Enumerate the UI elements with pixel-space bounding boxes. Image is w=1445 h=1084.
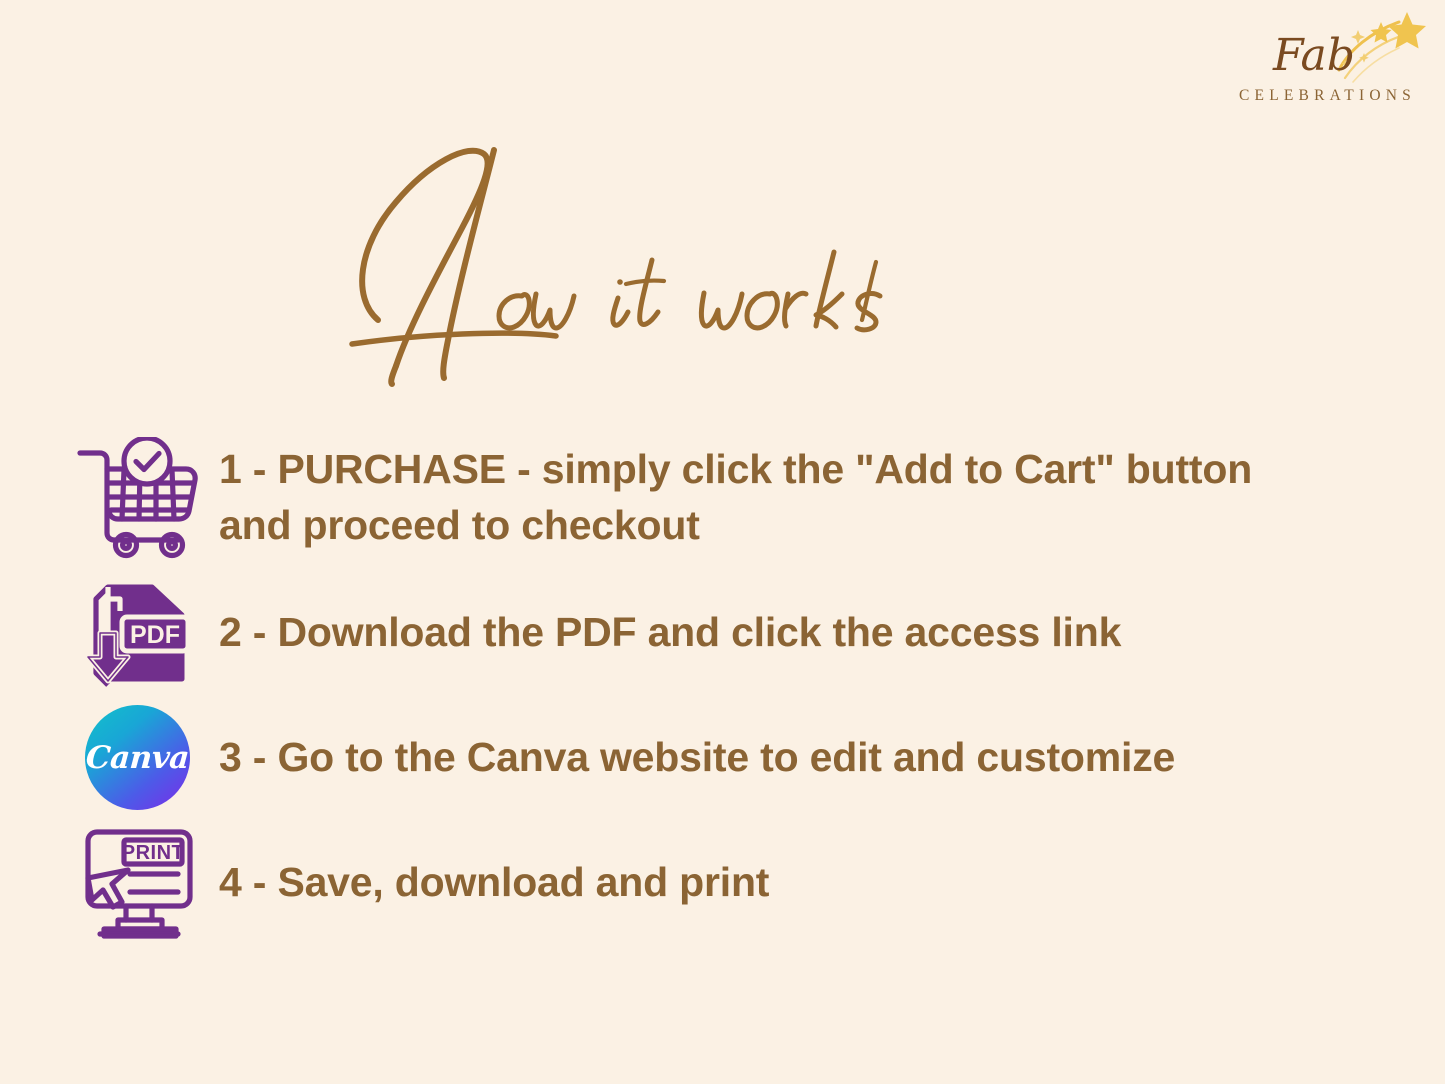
step-text: 3 - Go to the Canva website to edit and …	[205, 730, 1390, 785]
steps-list: 1 - PURCHASE - simply click the "Add to …	[70, 425, 1390, 945]
step-text: 1 - PURCHASE - simply click the "Add to …	[205, 442, 1309, 553]
page-title	[300, 128, 960, 403]
canva-logo-icon: Canva	[70, 695, 205, 820]
canva-circle: Canva	[85, 705, 190, 810]
list-item: 1 - PURCHASE - simply click the "Add to …	[70, 425, 1390, 570]
brand-logo: Fab CELEBRATIONS	[1231, 8, 1431, 113]
brand-name: Fab	[1272, 30, 1355, 81]
print-label: PRINT	[121, 842, 184, 864]
list-item: PRINT 4 - Save, download and print	[70, 820, 1390, 945]
list-item: Canva 3 - Go to the Canva website to edi…	[70, 695, 1390, 820]
step-text: 4 - Save, download and print	[205, 855, 1390, 910]
pdf-download-icon: PDF	[70, 570, 205, 695]
monitor-print-icon: PRINT	[70, 820, 205, 945]
shopping-cart-check-icon	[70, 435, 205, 560]
canva-label: Canva	[85, 740, 190, 776]
brand-tagline: CELEBRATIONS	[1239, 87, 1416, 104]
list-item: PDF 2 - Download the PDF and click the a…	[70, 570, 1390, 695]
pdf-label: PDF	[130, 621, 180, 649]
step-text: 2 - Download the PDF and click the acces…	[205, 605, 1390, 660]
